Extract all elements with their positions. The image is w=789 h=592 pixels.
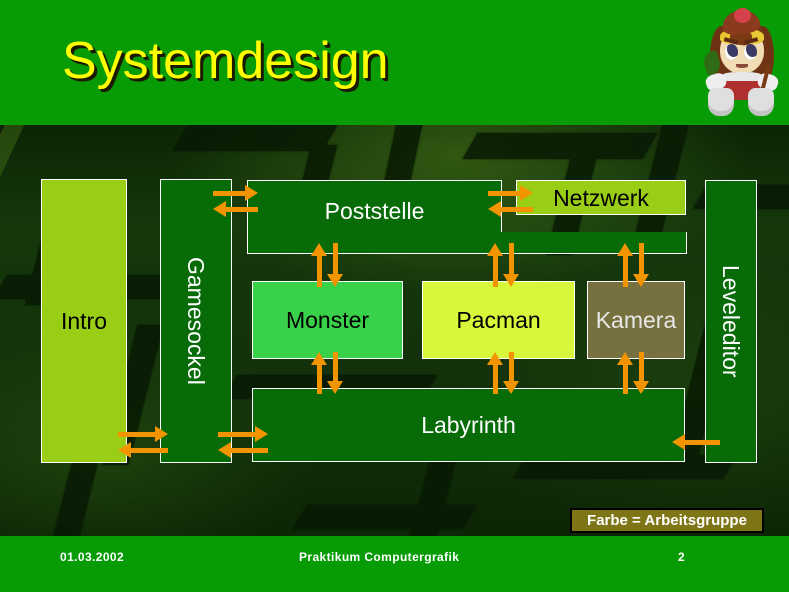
chibi-character-icon <box>700 8 782 118</box>
arrow-poststelle-to-pacman <box>503 243 519 287</box>
slide-footer: 01.03.2002 Praktikum Computergrafik 2 <box>0 536 789 592</box>
arrow-poststelle-to-kamera <box>633 243 649 287</box>
block-intro-label: Intro <box>61 308 107 334</box>
poststelle-seam <box>248 231 501 234</box>
arrow-gamesockel-to-labyrinth <box>218 426 268 442</box>
block-poststelle-label: Poststelle <box>325 198 425 224</box>
arrow-gamesockel-to-poststelle <box>213 185 258 201</box>
arrow-kamera-to-labyrinth <box>633 352 649 394</box>
footer-title: Praktikum Computergrafik <box>299 550 459 564</box>
block-netzwerk[interactable]: Netzwerk <box>516 180 686 215</box>
block-intro[interactable]: Intro <box>41 179 127 463</box>
arrow-poststelle-to-monster <box>327 243 343 287</box>
arrow-pacman-to-poststelle <box>487 243 503 287</box>
block-monster[interactable]: Monster <box>252 281 403 359</box>
arrow-monster-to-labyrinth <box>327 352 343 394</box>
block-leveleditor-label: Leveleditor <box>718 265 744 378</box>
block-pacman[interactable]: Pacman <box>422 281 575 359</box>
arrow-netzwerk-to-poststelle <box>488 201 533 217</box>
arrow-labyrinth-to-pacman <box>487 352 503 394</box>
arrow-labyrinth-to-gamesockel <box>218 442 268 458</box>
slide: Systemdesign Intro Gamesockel Poststelle <box>0 0 789 592</box>
block-gamesockel-label: Gamesockel <box>183 257 209 385</box>
arrow-gamesockel-to-intro <box>118 442 168 458</box>
block-monster-label: Monster <box>286 307 369 333</box>
block-leveleditor[interactable]: Leveleditor <box>705 180 757 463</box>
legend-label: Farbe = Arbeitsgruppe <box>587 512 747 529</box>
arrow-poststelle-to-gamesockel <box>213 201 258 217</box>
block-kamera[interactable]: Kamera <box>587 281 685 359</box>
arrow-intro-to-gamesockel <box>118 426 168 442</box>
block-netzwerk-label: Netzwerk <box>553 185 649 211</box>
page-title: Systemdesign <box>62 31 389 91</box>
arrow-pacman-to-labyrinth <box>503 352 519 394</box>
footer-page-number: 2 <box>678 550 685 564</box>
arrow-labyrinth-to-monster <box>311 352 327 394</box>
legend-box: Farbe = Arbeitsgruppe <box>570 508 764 533</box>
arrow-poststelle-to-netzwerk <box>488 185 533 201</box>
footer-date: 01.03.2002 <box>60 550 124 564</box>
block-gamesockel[interactable]: Gamesockel <box>160 179 232 463</box>
block-pacman-label: Pacman <box>456 307 540 333</box>
block-labyrinth-label: Labyrinth <box>421 412 516 438</box>
arrow-monster-to-poststelle <box>311 243 327 287</box>
slide-header: Systemdesign <box>0 0 789 125</box>
block-labyrinth[interactable]: Labyrinth <box>252 388 685 462</box>
arrow-leveleditor-to-labyrinth <box>672 434 720 450</box>
block-kamera-label: Kamera <box>596 307 677 333</box>
arrow-labyrinth-to-kamera <box>617 352 633 394</box>
arrow-kamera-to-poststelle <box>617 243 633 287</box>
